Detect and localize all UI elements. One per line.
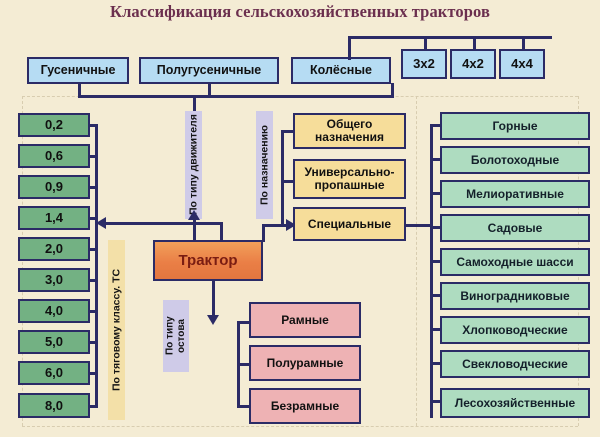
box-formula-3x2-label: 3x2 (413, 57, 435, 71)
label-by-frame-type: По типу остова (163, 300, 189, 372)
box-formula-4x2-label: 4x2 (462, 57, 484, 71)
box-half-tracked-label: Полугусеничные (157, 64, 261, 77)
box-special-type-label: Мелиоративные (466, 188, 564, 201)
box-wheeled-label: Колёсные (310, 64, 372, 77)
box-traction-class[interactable]: 4,0 (18, 299, 90, 323)
box-special-type[interactable]: Болотоходные (440, 146, 590, 174)
box-traction-class[interactable]: 0,2 (18, 113, 90, 137)
box-traction-class-label: 4,0 (45, 304, 63, 318)
box-traction-class[interactable]: 0,6 (18, 144, 90, 168)
box-purpose-general-label: Общего назначения (295, 118, 404, 143)
connector-polugus-down (208, 83, 211, 97)
box-wheeled[interactable]: Колёсные (291, 57, 391, 84)
guide-line-mid (416, 96, 417, 426)
box-special-type-label: Болотоходные (471, 154, 559, 167)
box-formula-4x4-label: 4x4 (511, 57, 533, 71)
box-traction-class-label: 2,0 (45, 242, 63, 256)
box-traction-class-label: 5,0 (45, 335, 63, 349)
box-purpose-special-label: Специальные (308, 218, 391, 231)
box-purpose-row-crop[interactable]: Универсально-пропашные (293, 159, 406, 199)
box-purpose-special[interactable]: Специальные (293, 207, 406, 241)
box-special-type-label: Самоходные шасси (456, 256, 573, 269)
box-traction-class[interactable]: 3,0 (18, 268, 90, 292)
box-frame-frameless-label: Безрамные (271, 400, 339, 413)
box-special-type[interactable]: Свекловодческие (440, 350, 590, 378)
connector-formula-4x2 (473, 36, 476, 50)
box-frame-semi-framed[interactable]: Полурамные (249, 345, 361, 381)
box-special-type[interactable]: Мелиоративные (440, 180, 590, 208)
connector-koles-down (391, 83, 394, 97)
box-special-type-label: Горные (492, 120, 537, 133)
box-traction-class-label: 1,4 (45, 211, 63, 225)
box-special-type[interactable]: Самоходные шасси (440, 248, 590, 276)
box-special-type[interactable]: Хлопководческие (440, 316, 590, 344)
label-by-propulsion: По типу движителя (185, 111, 202, 219)
box-special-type-label: Лесохозяйственные (455, 397, 575, 410)
box-special-type[interactable]: Лесохозяйственные (440, 388, 590, 418)
box-special-type[interactable]: Горные (440, 112, 590, 140)
box-special-type-label: Виноградниковые (460, 290, 569, 303)
box-tractor-root-label: Трактор (178, 253, 237, 269)
box-formula-4x2[interactable]: 4x2 (450, 49, 496, 79)
box-traction-class-label: 0,6 (45, 149, 63, 163)
connector-propulsion-bus (78, 95, 394, 98)
box-traction-class-label: 8,0 (45, 399, 63, 413)
box-traction-class[interactable]: 8,0 (18, 393, 90, 418)
connector-purpose-bus (281, 130, 284, 225)
box-frame-framed-label: Рамные (281, 314, 329, 327)
label-by-purpose: По назначению (256, 111, 273, 219)
box-purpose-row-crop-label: Универсально-пропашные (295, 166, 404, 191)
box-frame-semi-framed-label: Полурамные (267, 357, 344, 370)
connector-formula-4x4 (522, 36, 525, 50)
box-formula-4x4[interactable]: 4x4 (499, 49, 545, 79)
box-traction-class-label: 6,0 (45, 366, 63, 380)
label-by-traction-class: По тяговому классу. ТС (108, 240, 125, 420)
box-traction-class[interactable]: 1,4 (18, 206, 90, 230)
connector-root-down (212, 281, 215, 316)
arrow-root-up (188, 210, 200, 220)
box-half-tracked[interactable]: Полугусеничные (139, 57, 279, 84)
box-traction-class[interactable]: 0,9 (18, 175, 90, 199)
box-tracked-label: Гусеничные (41, 64, 116, 77)
box-special-type[interactable]: Садовые (440, 214, 590, 242)
box-special-type-label: Хлопководческие (462, 324, 567, 337)
connector-traction-bus (95, 124, 98, 408)
connector-formula-to-wheeled (348, 36, 351, 60)
connector-special-to-types (406, 224, 432, 227)
box-traction-class[interactable]: 2,0 (18, 237, 90, 261)
page-title: Классификация сельскохозяйственных тракт… (0, 2, 600, 22)
connector-types-bus (430, 124, 433, 418)
box-purpose-general[interactable]: Общего назначения (293, 113, 406, 149)
box-special-type-label: Свекловодческие (462, 358, 568, 371)
connector-root-left-riser (220, 222, 223, 242)
box-traction-class-label: 0,9 (45, 180, 63, 194)
classification-diagram: Классификация сельскохозяйственных тракт… (0, 0, 600, 437)
box-traction-class[interactable]: 5,0 (18, 330, 90, 354)
box-frame-framed[interactable]: Рамные (249, 302, 361, 338)
box-frame-frameless[interactable]: Безрамные (249, 388, 361, 424)
box-traction-class[interactable]: 6,0 (18, 361, 90, 385)
box-special-type[interactable]: Виноградниковые (440, 282, 590, 310)
box-tractor-root[interactable]: Трактор (153, 240, 263, 281)
box-formula-3x2[interactable]: 3x2 (401, 49, 447, 79)
box-special-type-label: Садовые (488, 222, 543, 235)
box-traction-class-label: 3,0 (45, 273, 63, 287)
connector-formula-3x2 (424, 36, 427, 50)
box-traction-class-label: 0,2 (45, 118, 63, 132)
guide-line-bottom (22, 426, 578, 427)
connector-gus-down (78, 83, 81, 97)
arrow-root-down (207, 315, 219, 325)
box-tracked[interactable]: Гусеничные (27, 57, 129, 84)
connector-root-left-run (106, 222, 222, 225)
